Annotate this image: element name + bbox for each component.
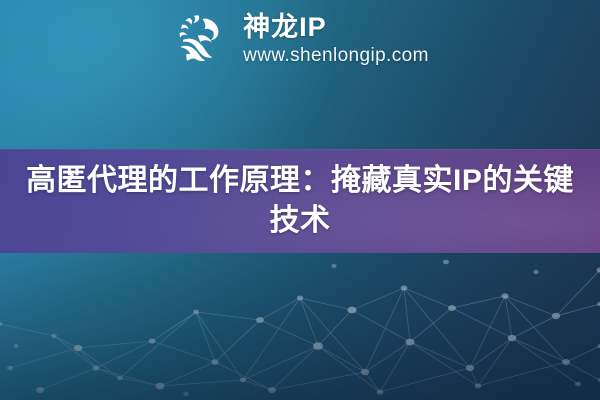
brand-text-block: 神龙IP www.shenlongip.com — [243, 14, 429, 65]
brand-name: 神龙IP — [243, 14, 429, 41]
brand-url: www.shenlongip.com — [243, 46, 429, 65]
promo-banner: 神龙IP www.shenlongip.com 高匿代理的工作原理：掩藏真实IP… — [0, 0, 600, 400]
page-title: 高匿代理的工作原理：掩藏真实IP的关键技术 — [4, 161, 596, 241]
title-band: 高匿代理的工作原理：掩藏真实IP的关键技术 — [0, 149, 600, 253]
background-bottom-shade — [0, 232, 600, 400]
brand-header: 神龙IP www.shenlongip.com — [0, 4, 600, 74]
dragon-logo-icon — [171, 10, 229, 68]
